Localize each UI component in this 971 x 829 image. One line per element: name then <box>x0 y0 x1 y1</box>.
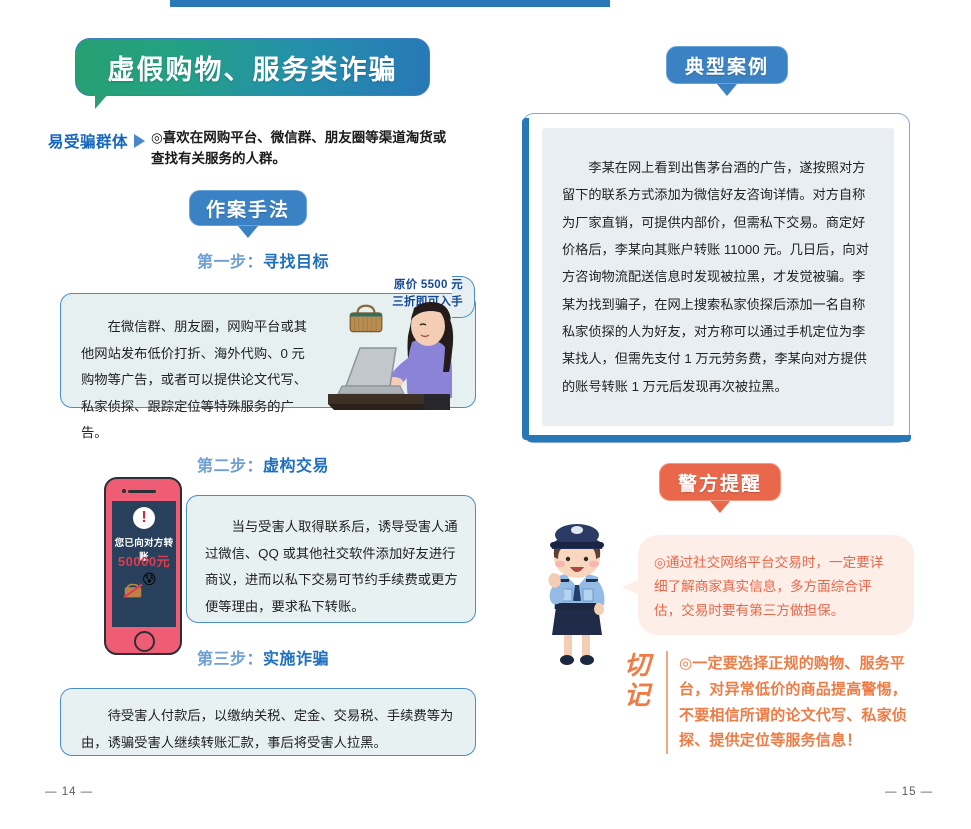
warning-pill-label: 警方提醒 <box>678 469 762 496</box>
phone-illustration: ! 您已向对方转账 50000元 😰 <box>104 477 182 655</box>
warning-bubble: ◎通过社交网络平台交易时，一定要详细了解商家真实信息，多方面综合评估，交易时要有… <box>638 535 914 635</box>
victim-group-row: 易受骗群体 ◎喜欢在网购平台、微信群、朋友圈等渠道淘货或查找有关服务的人群。 <box>48 128 468 170</box>
phone-transfer-amount: 50000元 <box>112 551 176 570</box>
remember-text: ◎一定要选择正规的购物、服务平台，对异常低价的商品提高警惕，不要相信所谓的论文代… <box>679 651 914 754</box>
step-2-name: 虚构交易 <box>263 458 329 475</box>
case-accent-left <box>522 118 529 440</box>
page-title-banner: 虚假购物、服务类诈骗 <box>75 38 430 96</box>
case-pill-label: 典型案例 <box>685 52 769 79</box>
woman-laptop-illustration <box>328 290 478 410</box>
phone-speaker-icon <box>128 490 156 493</box>
remember-divider <box>666 651 668 754</box>
page-number-left: — 14 — <box>45 786 93 798</box>
step-3-ordinal: 第三步： <box>197 651 263 668</box>
triangle-pointer-icon <box>134 134 145 148</box>
method-pill-tail <box>238 226 258 238</box>
method-pill: 作案手法 <box>189 190 307 226</box>
step-2-ordinal: 第二步： <box>197 458 263 475</box>
step-2-text-wrap: 当与受害人取得联系后，诱导受害人通过微信、QQ 或其他社交软件添加好友进行商议，… <box>205 514 461 620</box>
warning-pill: 警方提醒 <box>659 463 781 501</box>
step-3-text-wrap: 待受害人付款后，以缴纳关税、定金、交易税、手续费等为由，诱骗受害人继续转账汇款，… <box>81 703 459 756</box>
victim-group-label: 易受骗群体 <box>48 128 128 152</box>
phone-screen: ! 您已向对方转账 50000元 😰 <box>112 501 176 627</box>
remember-label-char-2: 记 <box>620 681 654 711</box>
remember-label-char-1: 切 <box>620 651 654 681</box>
left-page: 虚假购物、服务类诈骗 易受骗群体 ◎喜欢在网购平台、微信群、朋友圈等渠道淘货或查… <box>48 0 478 829</box>
case-pill-tail <box>717 84 737 96</box>
page-number-right: — 15 — <box>885 786 933 798</box>
step-2-text: 当与受害人取得联系后，诱导受害人通过微信、QQ 或其他社交软件添加好友进行商议，… <box>205 514 461 620</box>
step-2-heading: 第二步：虚构交易 <box>48 452 478 476</box>
brochure-page: 虚假购物、服务类诈骗 易受骗群体 ◎喜欢在网购平台、微信群、朋友圈等渠道淘货或查… <box>0 0 971 829</box>
step-1-name: 寻找目标 <box>263 254 329 271</box>
step-2-box: 当与受害人取得联系后，诱导受害人通过微信、QQ 或其他社交软件添加好友进行商议，… <box>186 495 476 623</box>
method-pill-label: 作案手法 <box>206 195 290 222</box>
bag-blocked-icon <box>122 579 144 601</box>
step-1-text: 在微信群、朋友圈，网购平台或其他网站发布低价打折、海外代购、0 元购物等广告，或… <box>81 314 311 447</box>
phone-camera-icon <box>122 489 126 493</box>
warning-pill-tail <box>710 501 730 513</box>
step-1-heading: 第一步：寻找目标 <box>48 248 478 272</box>
alert-icon: ! <box>133 507 155 529</box>
page-title: 虚假购物、服务类诈骗 <box>108 48 398 87</box>
step-3-text: 待受害人付款后，以缴纳关税、定金、交易税、手续费等为由，诱骗受害人继续转账汇款，… <box>81 703 459 756</box>
warning-text: ◎通过社交网络平台交易时，一定要详细了解商家真实信息，多方面综合评估，交易时要有… <box>638 535 914 624</box>
case-pill: 典型案例 <box>666 46 788 84</box>
case-inner-panel: 李某在网上看到出售茅台酒的广告，遂按照对方留下的联系方式添加为微信好友咨询详情。… <box>542 128 894 426</box>
step-1-ordinal: 第一步： <box>197 254 263 271</box>
case-accent-bottom <box>527 435 911 442</box>
remember-block: 切 记 ◎一定要选择正规的购物、服务平台，对异常低价的商品提高警惕，不要相信所谓… <box>620 651 920 754</box>
victim-group-text: ◎喜欢在网购平台、微信群、朋友圈等渠道淘货或查找有关服务的人群。 <box>151 128 451 170</box>
remember-label: 切 记 <box>620 651 666 754</box>
police-officer-illustration <box>522 515 632 670</box>
title-banner-tail <box>95 93 118 109</box>
worried-face-emoji: 😰 <box>142 571 157 588</box>
step-3-box: 待受害人付款后，以缴纳关税、定金、交易税、手续费等为由，诱骗受害人继续转账汇款，… <box>60 688 476 756</box>
step-1-text-wrap: 在微信群、朋友圈，网购平台或其他网站发布低价打折、海外代购、0 元购物等广告，或… <box>81 314 311 447</box>
right-page: 典型案例 李某在网上看到出售茅台酒的广告，遂按照对方留下的联系方式添加为微信好友… <box>500 0 971 829</box>
step-3-heading: 第三步：实施诈骗 <box>48 645 478 669</box>
case-text: 李某在网上看到出售茅台酒的广告，遂按照对方留下的联系方式添加为微信好友咨询详情。… <box>542 128 894 400</box>
step-3-name: 实施诈骗 <box>263 651 329 668</box>
